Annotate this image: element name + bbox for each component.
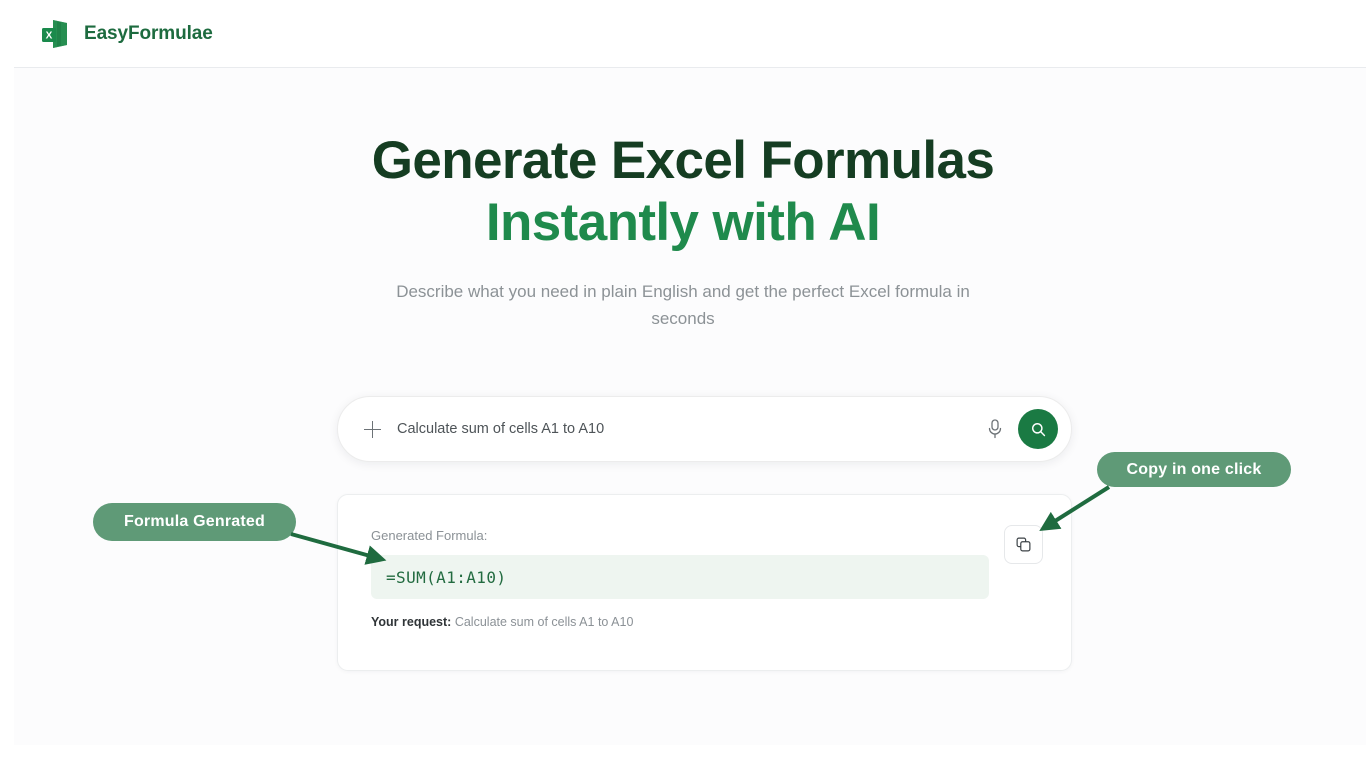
brand-logo-link[interactable]: X EasyFormulae	[40, 18, 213, 50]
your-request-line: Your request: Calculate sum of cells A1 …	[371, 615, 633, 629]
page-title-line1: Generate Excel Formulas	[0, 130, 1366, 192]
search-input[interactable]: Calculate sum of cells A1 to A10	[397, 421, 984, 437]
plus-icon[interactable]	[364, 421, 381, 438]
annotation-formula-generated: Formula Genrated	[93, 503, 296, 541]
annotation-copy-in-one-click: Copy in one click	[1097, 452, 1291, 487]
page-subtitle: Describe what you need in plain English …	[373, 278, 993, 332]
formula-text: =SUM(A1:A10)	[386, 568, 506, 587]
page-title: Generate Excel Formulas Instantly with A…	[0, 130, 1366, 254]
svg-text:X: X	[46, 30, 53, 41]
formula-display-box[interactable]: =SUM(A1:A10)	[371, 555, 989, 599]
page-title-line2: Instantly with AI	[0, 192, 1366, 254]
microphone-icon[interactable]	[984, 417, 1006, 441]
copy-formula-button[interactable]	[1004, 525, 1043, 564]
generated-formula-label: Generated Formula:	[371, 528, 487, 543]
your-request-value: Calculate sum of cells A1 to A10	[455, 615, 634, 629]
brand-name: EasyFormulae	[84, 23, 213, 45]
your-request-label: Your request:	[371, 615, 451, 629]
copy-icon	[1015, 536, 1032, 553]
site-header: X EasyFormulae	[14, 0, 1366, 68]
formula-search-bar[interactable]: Calculate sum of cells A1 to A10	[337, 396, 1072, 462]
hero-section: Generate Excel Formulas Instantly with A…	[0, 130, 1366, 332]
search-submit-button[interactable]	[1018, 409, 1058, 449]
search-icon	[1030, 421, 1047, 438]
generated-formula-card: Generated Formula: =SUM(A1:A10) Your req…	[337, 494, 1072, 671]
excel-file-icon: X	[40, 18, 70, 50]
